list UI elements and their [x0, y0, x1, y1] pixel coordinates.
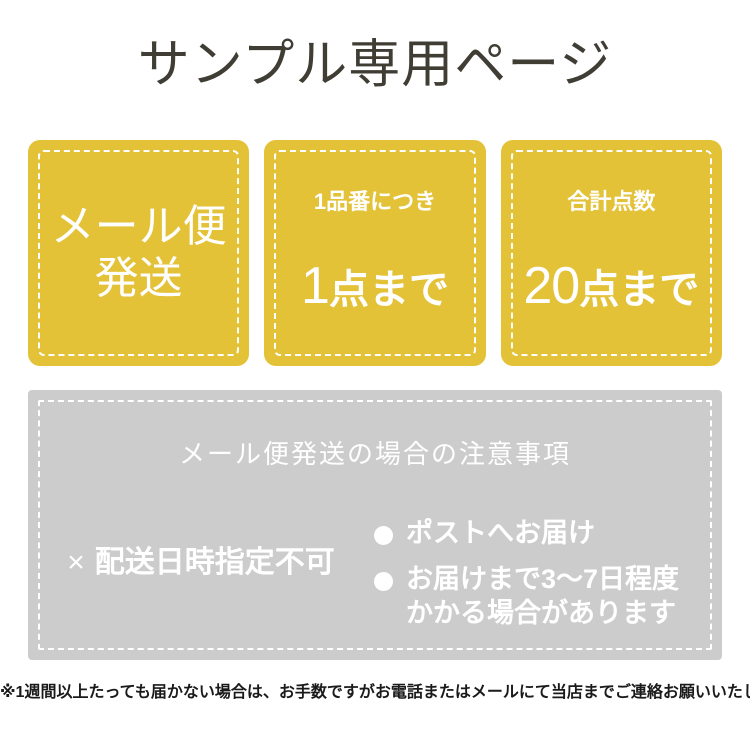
feature-box-shipping-method: メール便 発送	[28, 140, 249, 366]
shipping-notes-panel: メール便発送の場合の注意事項 ×配送日時指定不可 ポストへお届け お届けまで3〜…	[28, 390, 722, 660]
per-item-value: 1 点まで	[264, 259, 485, 317]
feature-box-total-limit: 合計点数 20 点まで	[501, 140, 722, 366]
cross-mark-icon: ×	[67, 546, 85, 579]
page-title: サンプル専用ページ	[0, 34, 750, 96]
feature-box-content: メール便 発送	[28, 201, 249, 305]
sample-shipping-banner: サンプル専用ページ メール便 発送 1品番につき 1 点まで 合計点数	[0, 0, 750, 750]
notes-heading: メール便発送の場合の注意事項	[28, 438, 722, 470]
note-list: ポストへお届け お届けまで3〜7日程度 かかる場合があります	[374, 516, 722, 630]
note-delivery-to-post-line-1: ポストへお届け	[406, 516, 595, 550]
shipping-method-line-2: 発送	[28, 253, 249, 305]
feature-box-row: メール便 発送 1品番につき 1 点まで 合計点数 20 点まで	[28, 140, 722, 366]
per-item-unit: 点まで	[329, 263, 449, 317]
bullet-dot-icon	[374, 526, 393, 545]
bullet-dot-icon	[374, 572, 393, 591]
note-delivery-time-line-1: お届けまで3〜7日程度	[406, 562, 679, 596]
total-items-value: 20 点まで	[501, 259, 722, 317]
total-items-unit: 点まで	[579, 263, 699, 317]
note-delivery-time: お届けまで3〜7日程度 かかる場合があります	[406, 562, 679, 630]
note-delivery-to-post: ポストへお届け	[406, 516, 595, 550]
notes-body: ×配送日時指定不可 ポストへお届け お届けまで3〜7日程度 かかる場合があります	[28, 516, 722, 630]
list-item: ポストへお届け	[374, 516, 722, 550]
feature-box-content: 合計点数 20 点まで	[501, 189, 722, 317]
list-item: お届けまで3〜7日程度 かかる場合があります	[374, 562, 722, 630]
note-no-date-time-designation: ×配送日時指定不可	[28, 516, 374, 582]
total-items-caption: 合計点数	[501, 189, 722, 215]
feature-box-per-item-limit: 1品番につき 1 点まで	[264, 140, 485, 366]
feature-box-content: 1品番につき 1 点まで	[264, 189, 485, 317]
per-item-number: 1	[301, 259, 329, 313]
note-no-date-time-text: 配送日時指定不可	[95, 546, 335, 579]
shipping-method-line-1: メール便	[28, 201, 249, 253]
per-item-caption: 1品番につき	[264, 189, 485, 215]
total-items-number: 20	[523, 259, 579, 313]
footer-contact-note: ※1週間以上たっても届かない場合は、お手数ですがお電話またはメールにて当店までご…	[0, 682, 750, 704]
note-delivery-time-line-2: かかる場合があります	[406, 596, 679, 630]
